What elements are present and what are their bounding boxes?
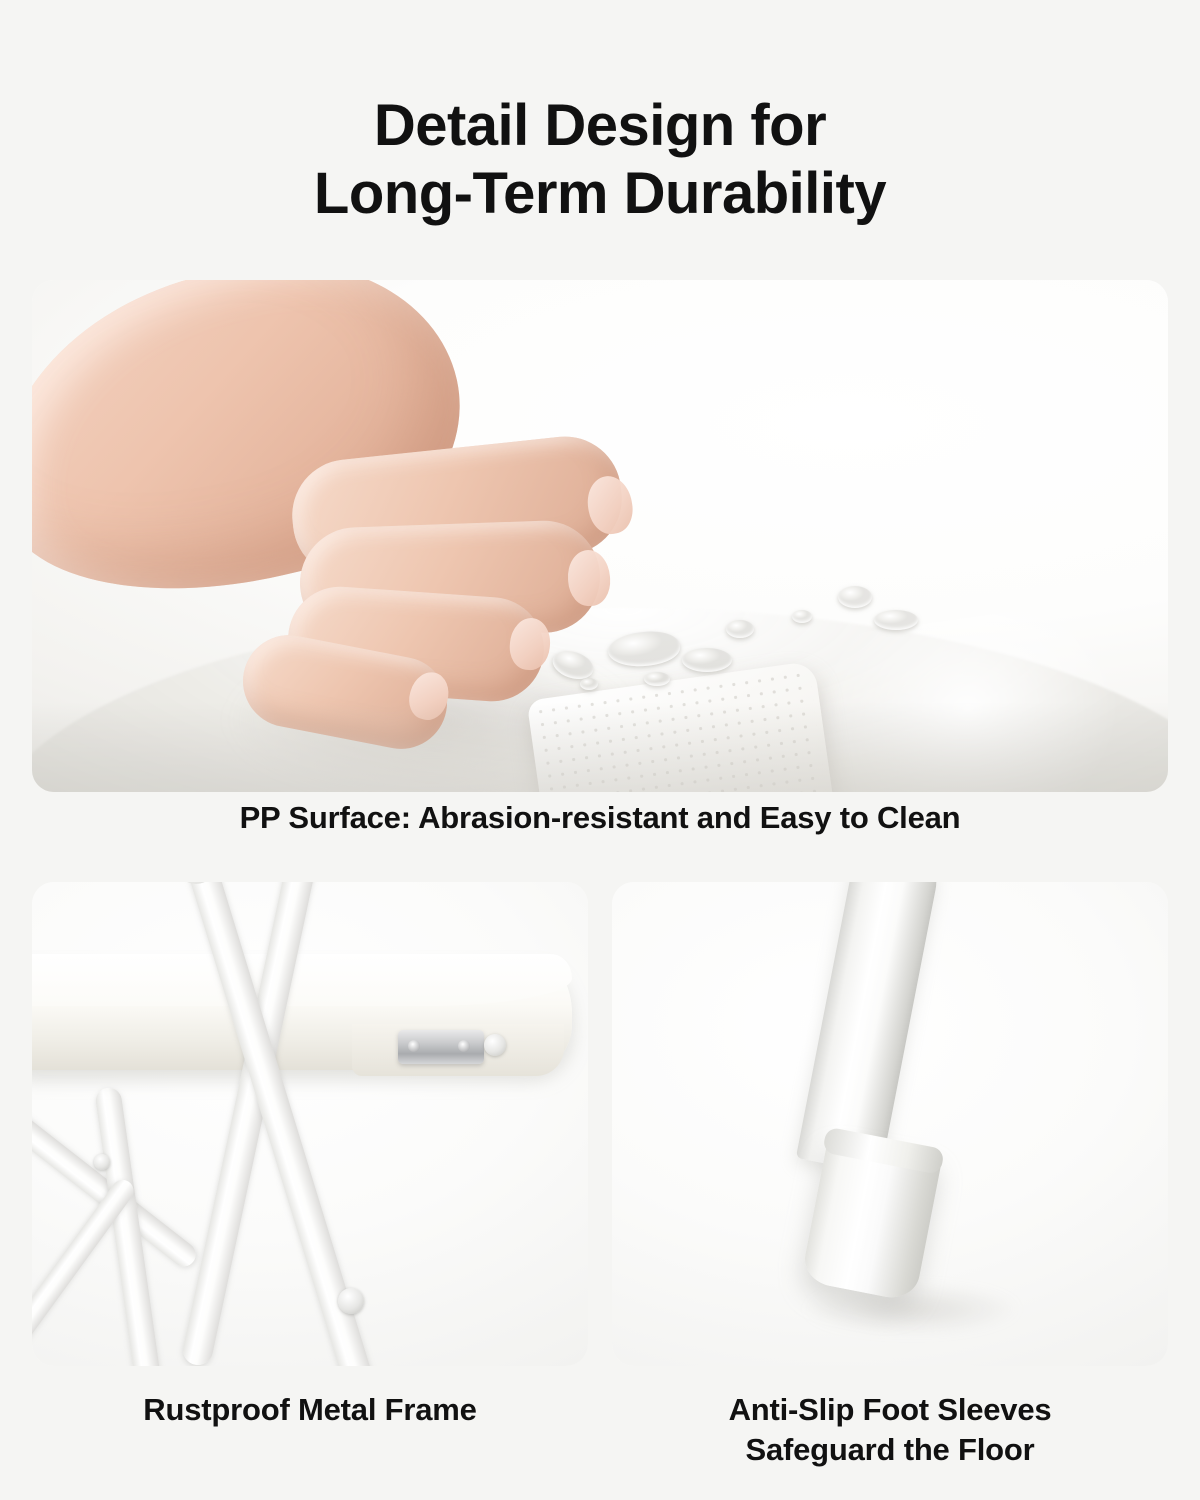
pp-surface-image	[32, 280, 1168, 792]
page-title: Detail Design for Long-Term Durability	[0, 0, 1200, 229]
product-detail-page: Detail Design for Long-Term Durability	[0, 0, 1200, 1500]
foot-sleeve-caption-line-1: Anti-Slip Foot Sleeves	[612, 1390, 1168, 1430]
water-droplet	[874, 610, 918, 630]
surface-bottom-shading	[32, 702, 1168, 792]
rivet	[484, 1034, 506, 1056]
pp-surface-caption: PP Surface: Abrasion-resistant and Easy …	[0, 800, 1200, 836]
bracket-hole	[408, 1040, 420, 1052]
page-title-line-1: Detail Design for	[0, 92, 1200, 160]
metal-frame-image	[32, 882, 588, 1366]
page-title-line-2: Long-Term Durability	[0, 160, 1200, 228]
metal-frame-caption: Rustproof Metal Frame	[32, 1390, 588, 1430]
feature-cards-row	[32, 882, 1168, 1366]
bracket-hole	[458, 1040, 470, 1052]
foot-sleeve-image	[612, 882, 1168, 1366]
water-droplet	[792, 610, 812, 623]
chair-seat-top	[32, 954, 572, 1006]
foot-sleeve-caption: Anti-Slip Foot Sleeves Safeguard the Flo…	[612, 1390, 1168, 1469]
foot-sleeve-caption-line-2: Safeguard the Floor	[612, 1430, 1168, 1470]
water-droplet	[838, 586, 872, 608]
rivet	[338, 1288, 364, 1314]
rivet	[94, 1154, 110, 1170]
